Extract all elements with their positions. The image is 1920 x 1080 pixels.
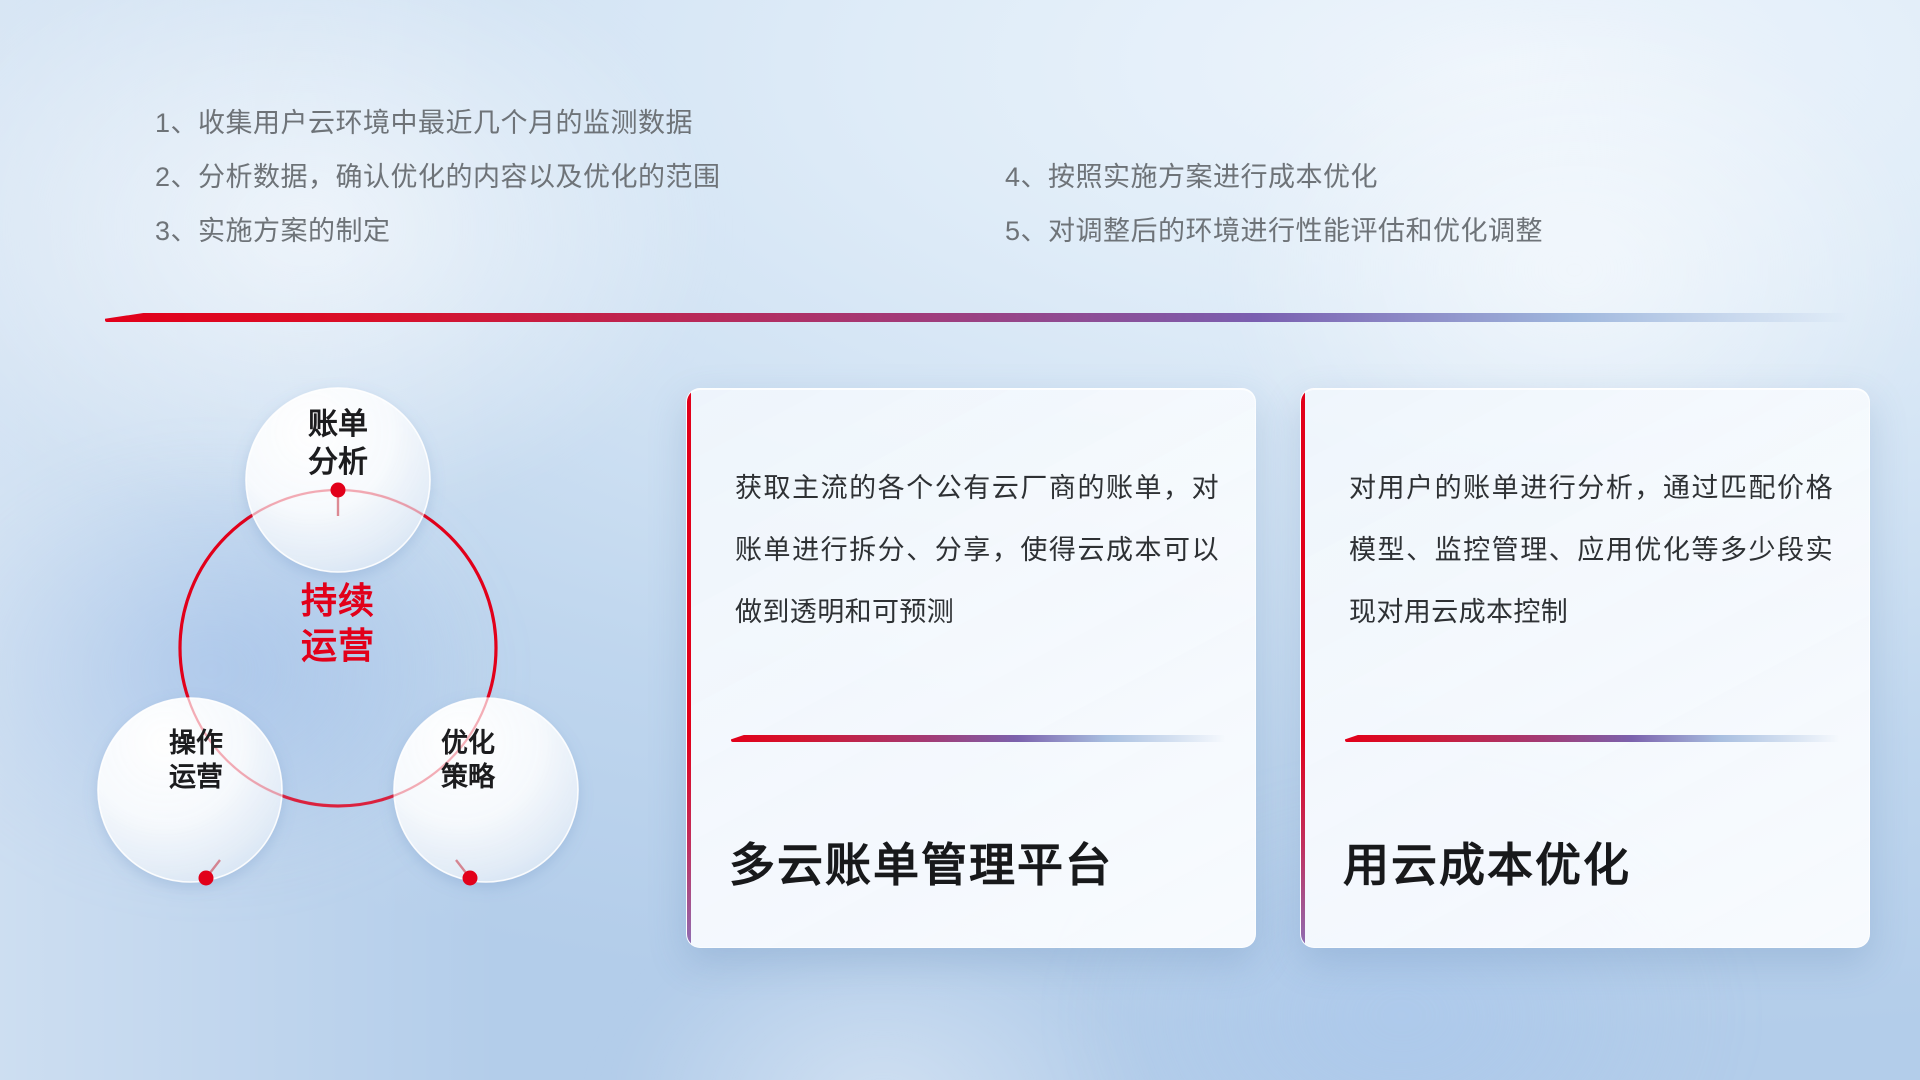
venn-center-label: 持续 运营 xyxy=(238,578,438,669)
card-title-text: 多云账单管理平台 xyxy=(729,829,1227,895)
step-item-2: 2、分析数据，确认优化的内容以及优化的范围 xyxy=(155,150,721,204)
venn-node-dot-top xyxy=(331,483,346,498)
step-item-4: 4、按照实施方案进行成本优化 xyxy=(1005,150,1543,204)
slide-canvas: 1、收集用户云环境中最近几个月的监测数据 2、分析数据，确认优化的内容以及优化的… xyxy=(0,0,1920,1080)
card-divider xyxy=(1345,735,1839,742)
step-item-1: 1、收集用户云环境中最近几个月的监测数据 xyxy=(155,96,721,150)
steps-right-column: 4、按照实施方案进行成本优化 5、对调整后的环境进行性能评估和优化调整 xyxy=(1005,150,1543,258)
card-cloud-cost-optimization[interactable]: 对用户的账单进行分析，通过匹配价格模型、监控管理、应用优化等多少段实现对用云成本… xyxy=(1300,388,1870,948)
venn-label-optimize-strategy: 优化 策略 xyxy=(388,726,548,794)
venn-node-dot-left xyxy=(199,871,214,886)
card-title-text: 用云成本优化 xyxy=(1343,829,1841,895)
steps-left-column: 1、收集用户云环境中最近几个月的监测数据 2、分析数据，确认优化的内容以及优化的… xyxy=(155,96,721,258)
venn-diagram: 账单 分析 操作 运营 优化 策略 持续 运营 xyxy=(88,348,608,908)
card-divider xyxy=(731,735,1225,742)
card-body-text: 获取主流的各个公有云厂商的账单，对账单进行拆分、分享，使得云成本可以做到透明和可… xyxy=(735,457,1219,643)
venn-label-operation-ops: 操作 运营 xyxy=(116,726,276,794)
card-multi-cloud-billing-platform[interactable]: 获取主流的各个公有云厂商的账单，对账单进行拆分、分享，使得云成本可以做到透明和可… xyxy=(686,388,1256,948)
card-body-text: 对用户的账单进行分析，通过匹配价格模型、监控管理、应用优化等多少段实现对用云成本… xyxy=(1349,457,1833,643)
venn-node-dot-right xyxy=(463,871,478,886)
section-divider xyxy=(105,313,1850,322)
step-item-5: 5、对调整后的环境进行性能评估和优化调整 xyxy=(1005,204,1543,258)
step-item-3: 3、实施方案的制定 xyxy=(155,204,721,258)
venn-label-billing-analysis: 账单 分析 xyxy=(258,406,418,482)
